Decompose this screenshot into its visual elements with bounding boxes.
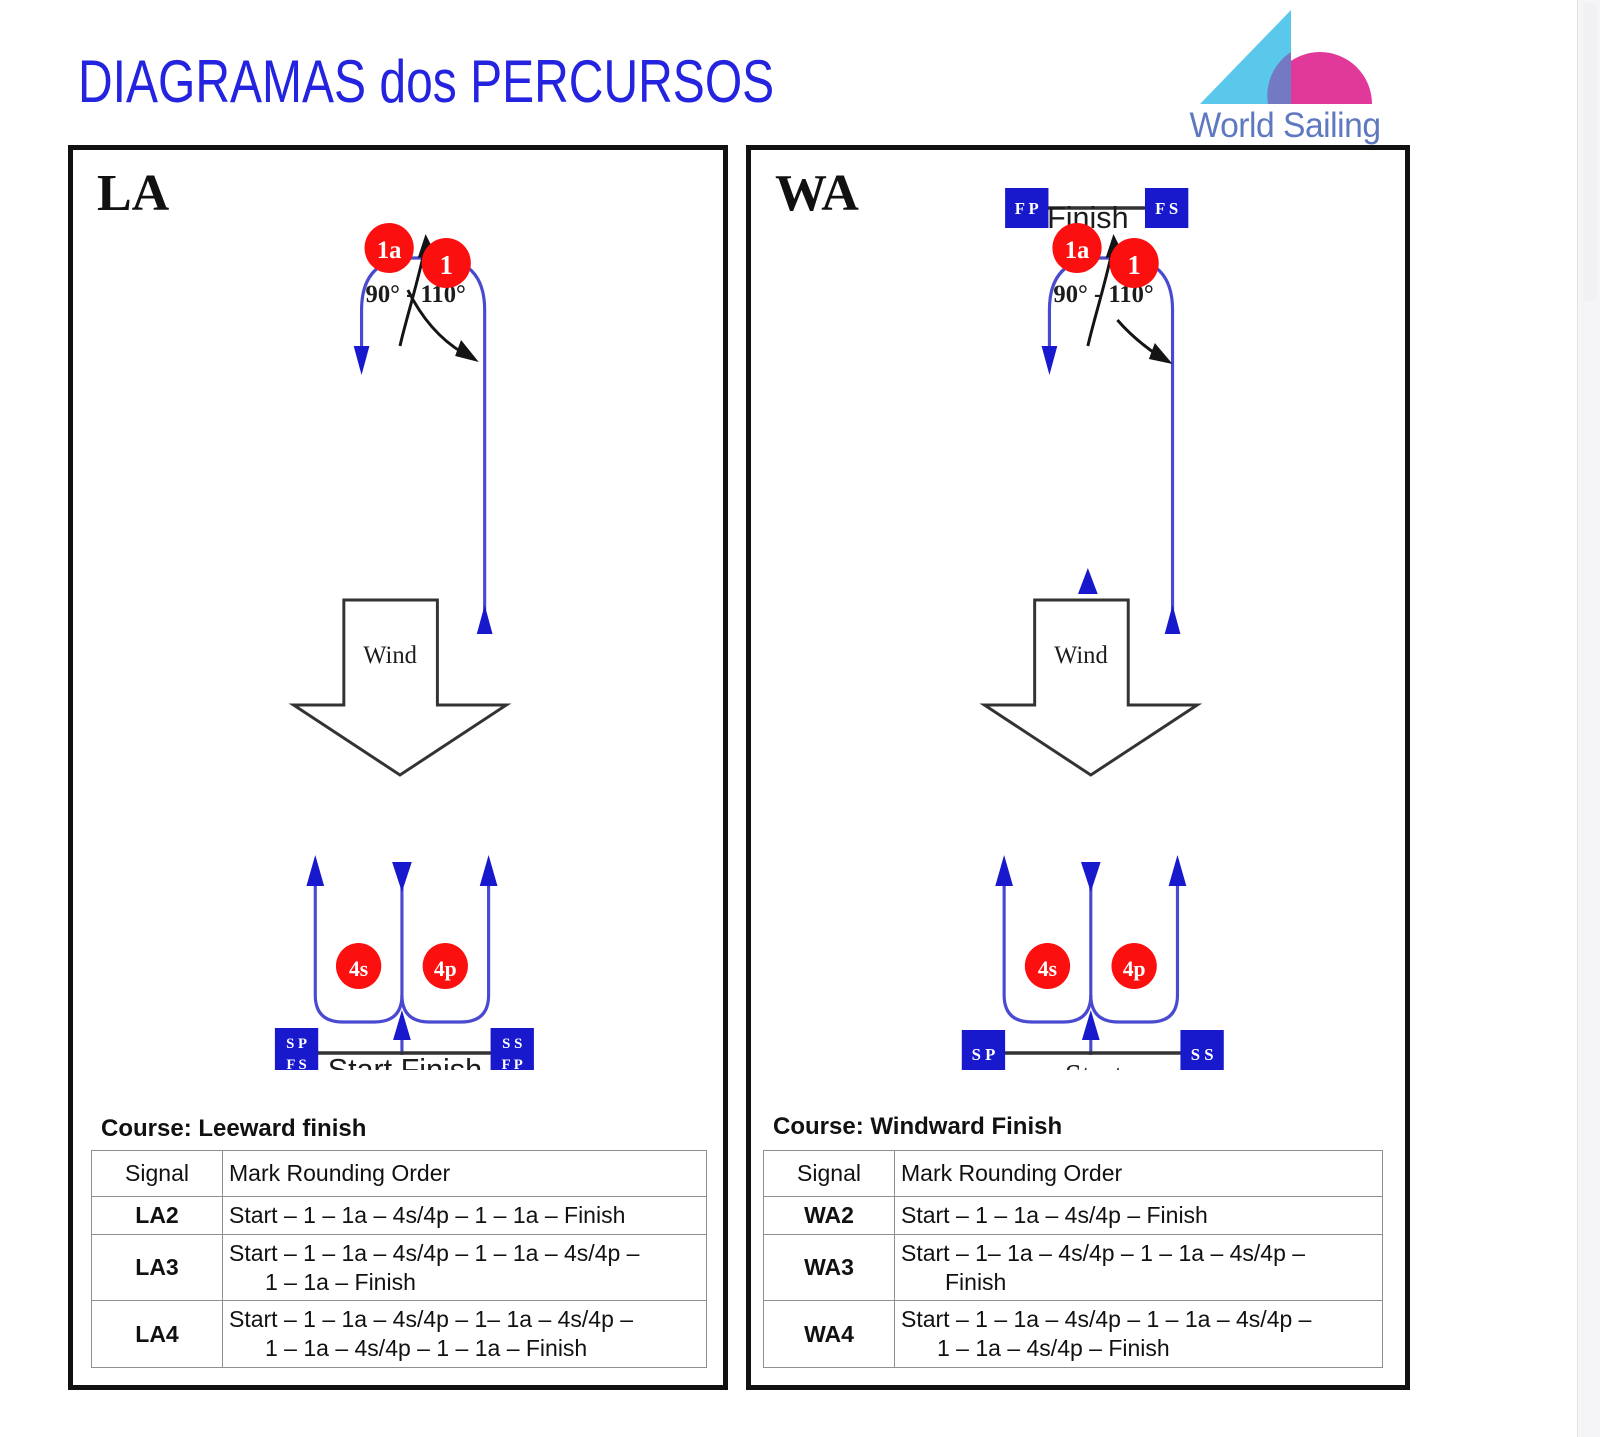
cell-signal: WA2	[764, 1197, 895, 1235]
order-line-1: Start – 1 – 1a – 4s/4p – 1 – 1a – 4s/4p …	[901, 1306, 1311, 1332]
cell-order: Start – 1 – 1a – 4s/4p – 1– 1a – 4s/4p –…	[223, 1301, 707, 1368]
logo-mark-icon	[1160, 4, 1410, 109]
cell-signal: LA4	[92, 1301, 223, 1368]
vertical-scrollbar[interactable]	[1577, 0, 1600, 1437]
cell-order: Start – 1– 1a – 4s/4p – 1 – 1a – 4s/4p –…	[895, 1234, 1383, 1301]
arrowhead-down-left	[354, 346, 370, 375]
mark-4s-label: 4s	[349, 957, 368, 981]
cell-signal: LA3	[92, 1234, 223, 1301]
wind-label: Wind	[1054, 642, 1108, 669]
logo-wordmark: World Sailing	[1165, 106, 1405, 146]
course-table-la: Signal Mark Rounding Order LA2 Start – 1…	[91, 1150, 707, 1368]
cell-signal: WA4	[764, 1301, 895, 1368]
cell-signal: LA2	[92, 1197, 223, 1235]
table-row: LA3 Start – 1 – 1a – 4s/4p – 1 – 1a – 4s…	[92, 1234, 707, 1301]
cell-order: Start – 1 – 1a – 4s/4p – 1 – 1a – 4s/4p …	[223, 1234, 707, 1301]
table-row: WA3 Start – 1– 1a – 4s/4p – 1 – 1a – 4s/…	[764, 1234, 1383, 1301]
col-header-signal: Signal	[92, 1151, 223, 1197]
table-row: WA4 Start – 1 – 1a – 4s/4p – 1 – 1a – 4s…	[764, 1301, 1383, 1368]
order-line-2: 1 – 1a – Finish	[229, 1268, 700, 1297]
order-line-2: 1 – 1a – 4s/4p – Finish	[901, 1334, 1376, 1363]
wind-label: Wind	[363, 642, 417, 669]
course-diagram-wa: F P F S Finish 90° - 110° 1a	[751, 150, 1405, 1070]
world-sailing-logo: World Sailing	[1160, 4, 1410, 152]
course-panel-wa: WA F P F S Finish	[746, 145, 1410, 1390]
table-row: WA2 Start – 1 – 1a – 4s/4p – Finish	[764, 1197, 1383, 1235]
course-leg-path-upper	[362, 258, 485, 620]
cell-order: Start – 1 – 1a – 4s/4p – 1 – 1a – Finish	[223, 1197, 707, 1235]
mark-1-label: 1	[440, 250, 453, 280]
finish-left-flag-label: F P	[1015, 199, 1039, 218]
mark-4p-label: 4p	[434, 957, 457, 981]
order-line-1: Start – 1 – 1a – 4s/4p – 1 – 1a – Finish	[229, 1202, 625, 1228]
arrowhead-gate-right-up	[480, 855, 498, 886]
start-label: Start	[1065, 1058, 1123, 1070]
col-header-order: Mark Rounding Order	[223, 1151, 707, 1197]
col-header-signal: Signal	[764, 1151, 895, 1197]
left-flag-top-label: S P	[286, 1036, 307, 1052]
mark-1a-label: 1a	[377, 237, 402, 264]
finish-right-flag-label: F S	[1155, 199, 1178, 218]
right-flag-top-label: S S	[1191, 1045, 1214, 1064]
cell-order: Start – 1 – 1a – 4s/4p – Finish	[895, 1197, 1383, 1235]
wind-arrow-icon	[984, 600, 1197, 775]
page-title: DIAGRAMAS dos PERCURSOS	[78, 52, 774, 112]
mark-4s-label: 4s	[1038, 957, 1057, 981]
arrowhead-gate-left-up	[306, 855, 324, 886]
order-line-2: Finish	[901, 1268, 1376, 1297]
table-row: LA2 Start – 1 – 1a – 4s/4p – 1 – 1a – Fi…	[92, 1197, 707, 1235]
col-header-order: Mark Rounding Order	[895, 1151, 1383, 1197]
cell-order: Start – 1 – 1a – 4s/4p – 1 – 1a – 4s/4p …	[895, 1301, 1383, 1368]
course-caption-wa: Course: Windward Finish	[773, 1113, 1062, 1141]
course-leg-path-upper	[1049, 258, 1172, 620]
course-table-wa: Signal Mark Rounding Order WA2 Start – 1…	[763, 1150, 1383, 1368]
arrowhead-to-finish	[1078, 568, 1098, 594]
course-caption-la: Course: Leeward finish	[101, 1115, 366, 1143]
arrowhead-gate-left-up	[995, 855, 1013, 886]
course-diagram-la: 90° - 110° 1a 1 Wind	[73, 150, 723, 1070]
order-line-1: Start – 1 – 1a – 4s/4p – Finish	[901, 1202, 1208, 1228]
start-finish-label: Start Finish	[328, 1052, 482, 1070]
arrowhead-gate-center-down	[392, 862, 412, 892]
table-header-row: Signal Mark Rounding Order	[764, 1151, 1383, 1197]
table-row: LA4 Start – 1 – 1a – 4s/4p – 1– 1a – 4s/…	[92, 1301, 707, 1368]
arrowhead-up-right	[477, 605, 493, 634]
left-flag-bottom-label: F S	[286, 1057, 306, 1070]
order-line-1: Start – 1 – 1a – 4s/4p – 1– 1a – 4s/4p –	[229, 1306, 633, 1332]
order-line-1: Start – 1 – 1a – 4s/4p – 1 – 1a – 4s/4p …	[229, 1240, 639, 1266]
angle-arrowhead-right	[455, 340, 479, 362]
order-line-1: Start – 1– 1a – 4s/4p – 1 – 1a – 4s/4p –	[901, 1240, 1305, 1266]
right-flag-top-label: S S	[502, 1036, 522, 1052]
mark-1a-label: 1a	[1065, 237, 1090, 264]
course-panel-la: LA	[68, 145, 728, 1390]
mark-4p-label: 4p	[1123, 957, 1146, 981]
scrollbar-thumb[interactable]	[1583, 2, 1597, 302]
document-page: DIAGRAMAS dos PERCURSOS World Sailing LA	[0, 0, 1600, 1437]
right-flag-bottom-label: F P	[502, 1057, 523, 1070]
table-header-row: Signal Mark Rounding Order	[92, 1151, 707, 1197]
wind-arrow-icon	[294, 600, 507, 775]
arrowhead-gate-center-down	[1081, 862, 1101, 892]
mark-1-label: 1	[1127, 250, 1140, 280]
order-line-2: 1 – 1a – 4s/4p – 1 – 1a – Finish	[229, 1334, 700, 1363]
cell-signal: WA3	[764, 1234, 895, 1301]
left-flag-top-label: S P	[972, 1045, 996, 1064]
angle-arrowhead-right	[1149, 343, 1173, 364]
arrowhead-gate-right-up	[1169, 855, 1187, 886]
arrowhead-down-left	[1042, 346, 1058, 375]
arrowhead-up-right	[1165, 605, 1181, 634]
